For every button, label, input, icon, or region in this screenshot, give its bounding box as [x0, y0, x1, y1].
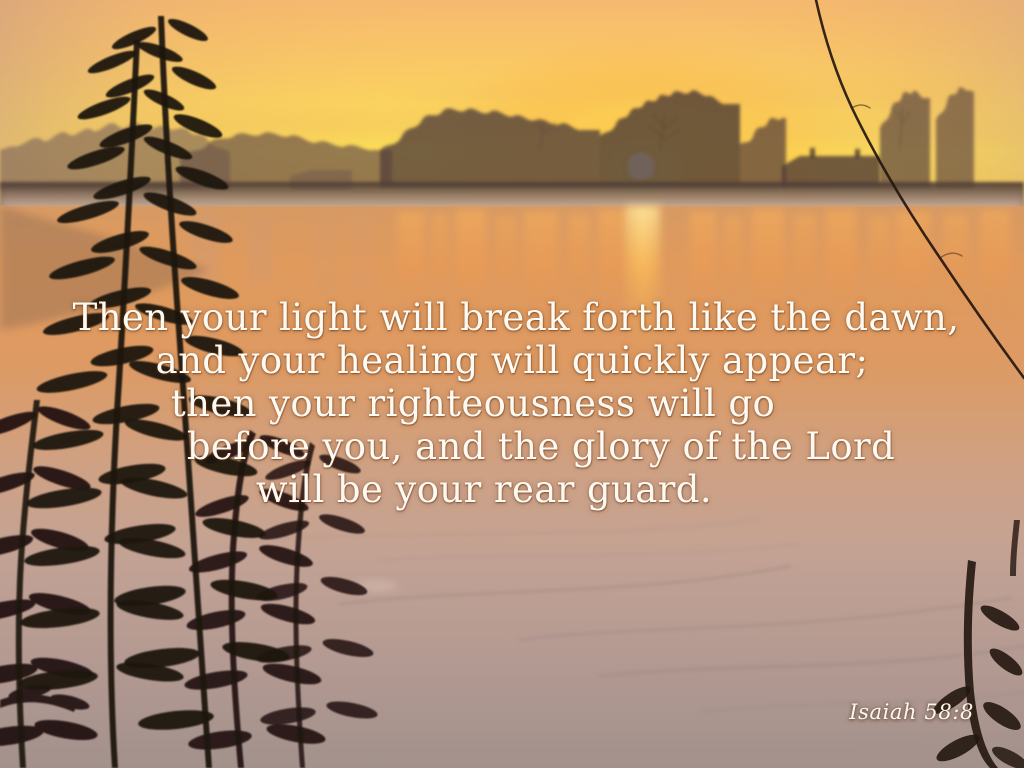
scripture-image: Then your light will break forth like th… [0, 0, 1024, 768]
sunrise-lake-photo [0, 0, 1024, 768]
